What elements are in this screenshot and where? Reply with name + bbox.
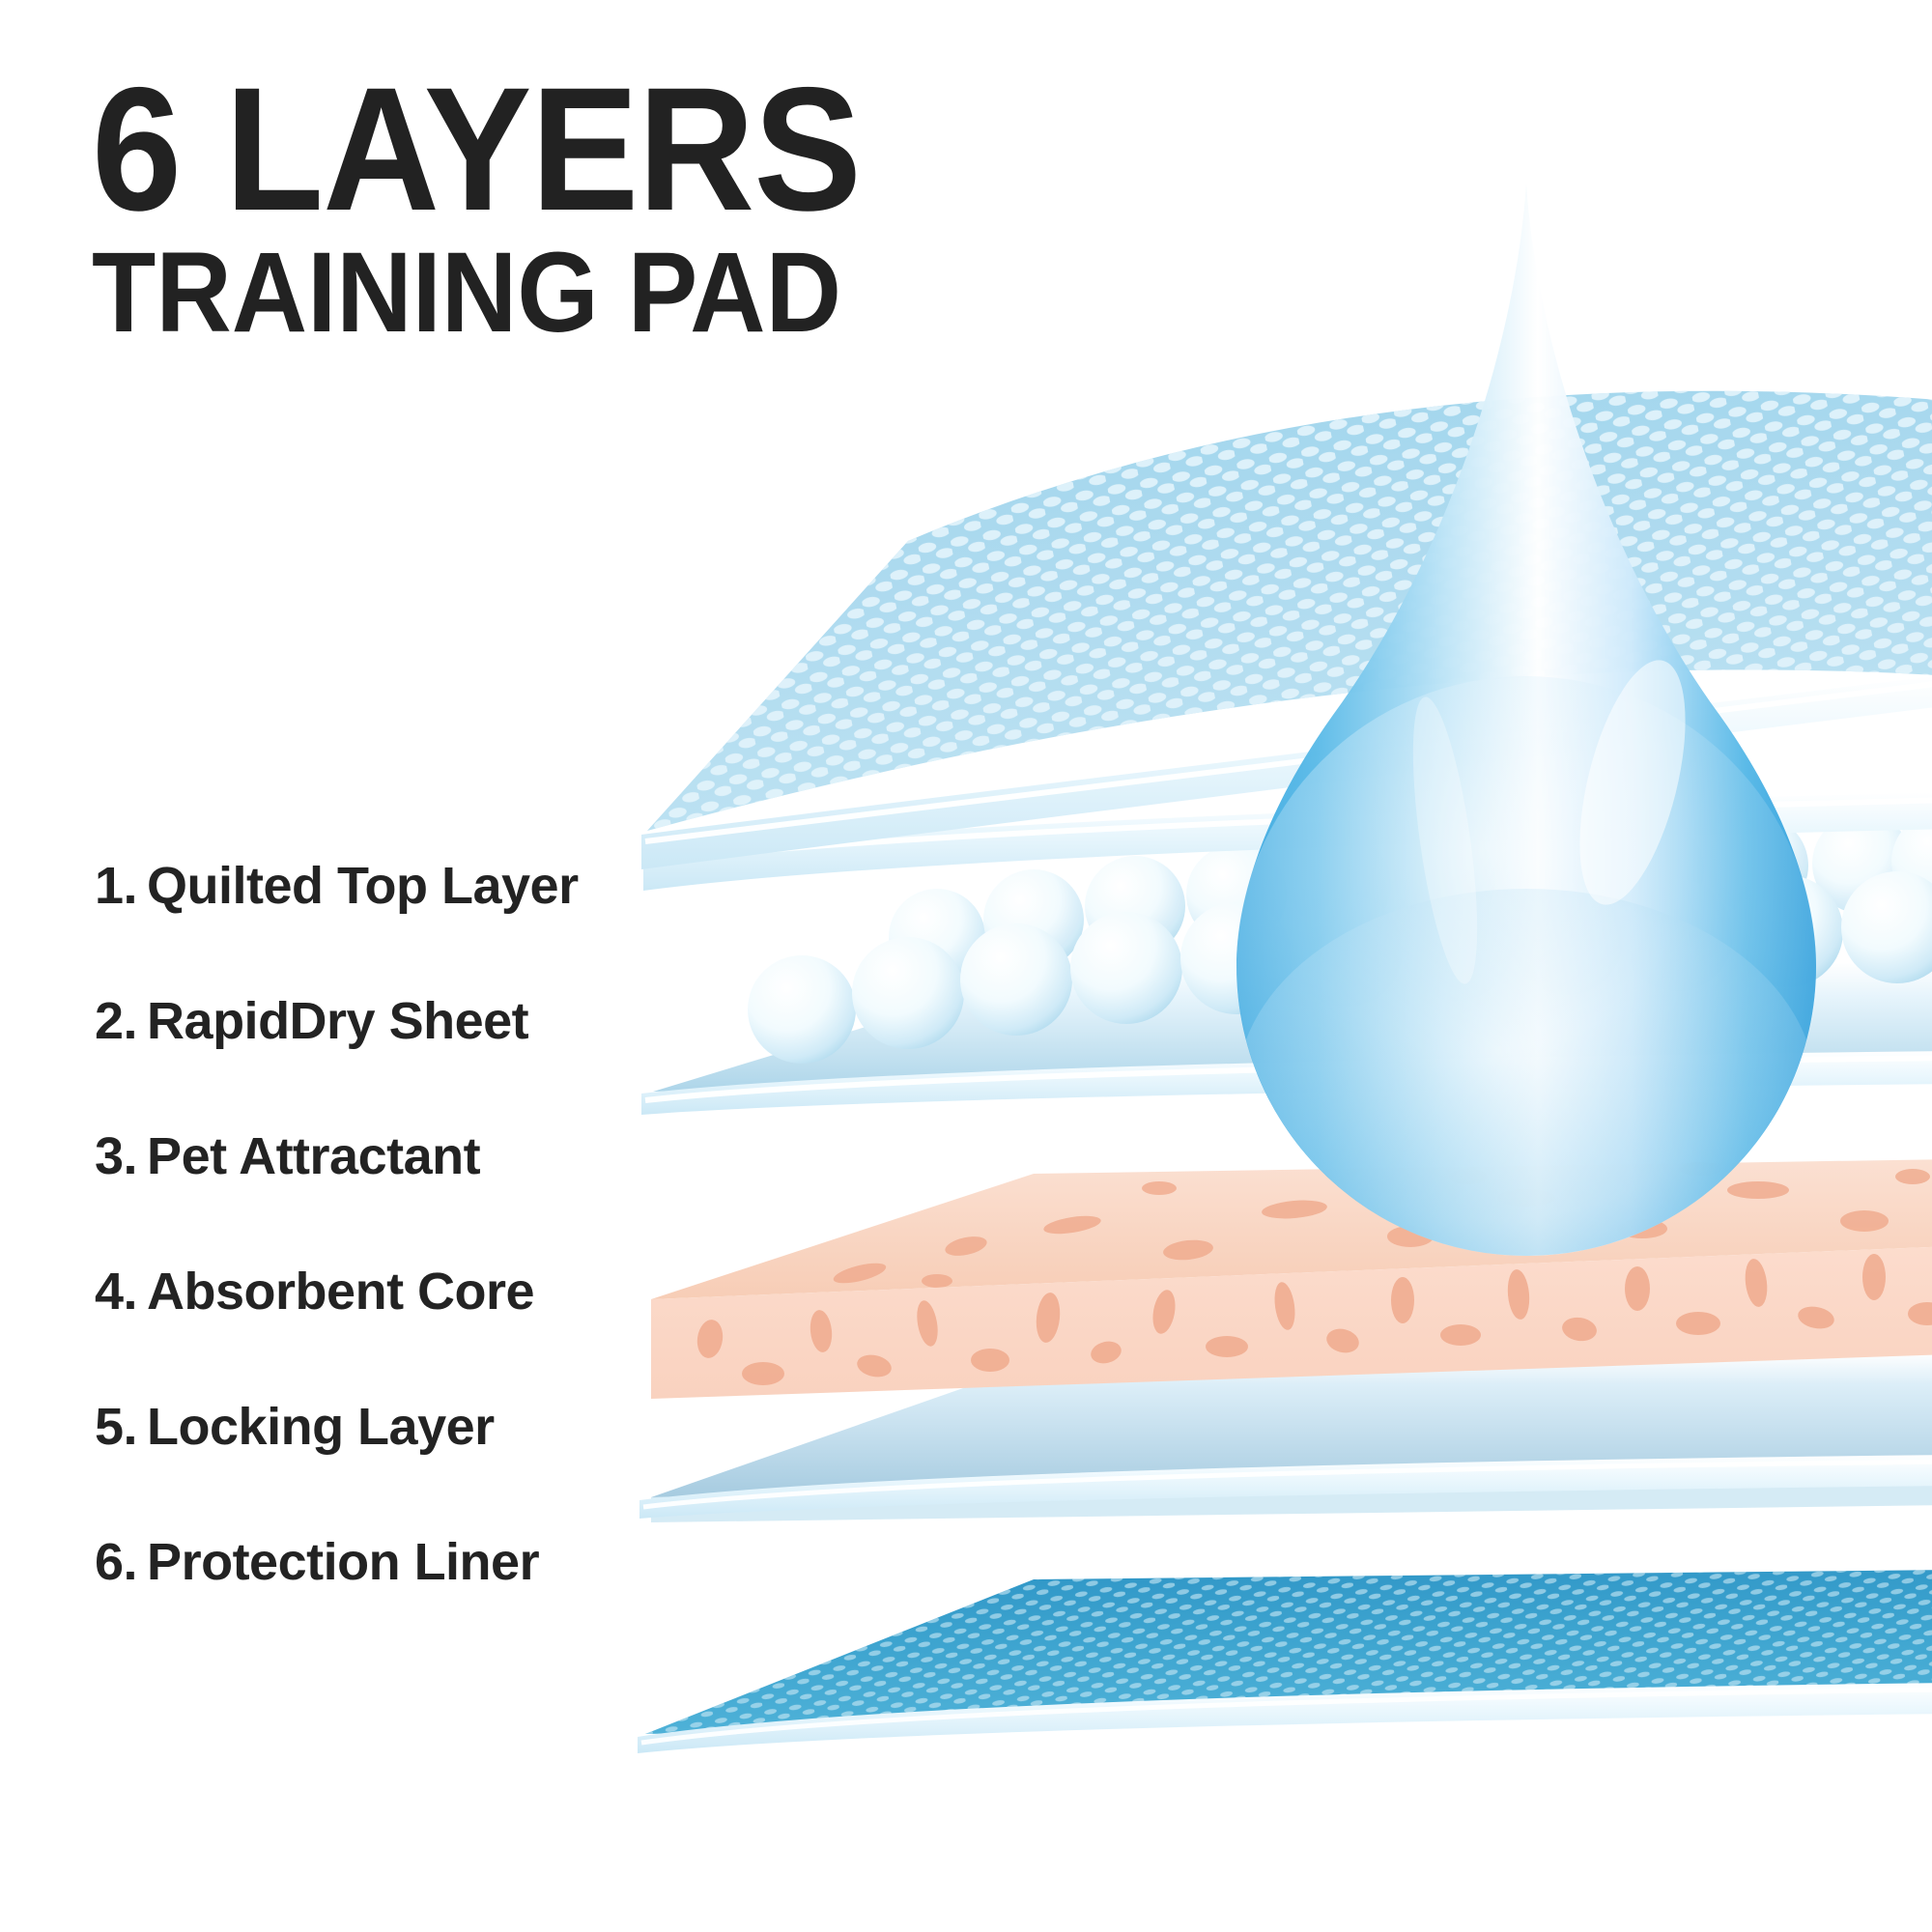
pad-cross-section-illustration: Exploded cross-section of a 6 layer pet … xyxy=(618,164,1932,1787)
layer-number-3: 3. xyxy=(95,1127,137,1185)
layer-number-2: 2. xyxy=(95,992,137,1050)
layer-number-5: 5. xyxy=(95,1398,137,1456)
layer-label-2: RapidDry Sheet xyxy=(147,992,528,1050)
layer-label-6: Protection Liner xyxy=(147,1533,539,1591)
layer-label-3: Pet Attractant xyxy=(147,1127,480,1185)
layer-label-5: Locking Layer xyxy=(147,1398,495,1456)
infographic-canvas: 6 LAYERS TRAINING PAD 1.Quilted Top Laye… xyxy=(0,0,1932,1932)
layer-label-4: Absorbent Core xyxy=(147,1263,534,1321)
layer-label-1: Quilted Top Layer xyxy=(147,857,579,915)
layer-number-1: 1. xyxy=(95,857,137,915)
layer-number-4: 4. xyxy=(95,1263,137,1321)
layer-number-6: 6. xyxy=(95,1533,137,1591)
water-droplet xyxy=(1236,184,1816,1294)
protection-liner-layer xyxy=(618,1555,1932,1753)
